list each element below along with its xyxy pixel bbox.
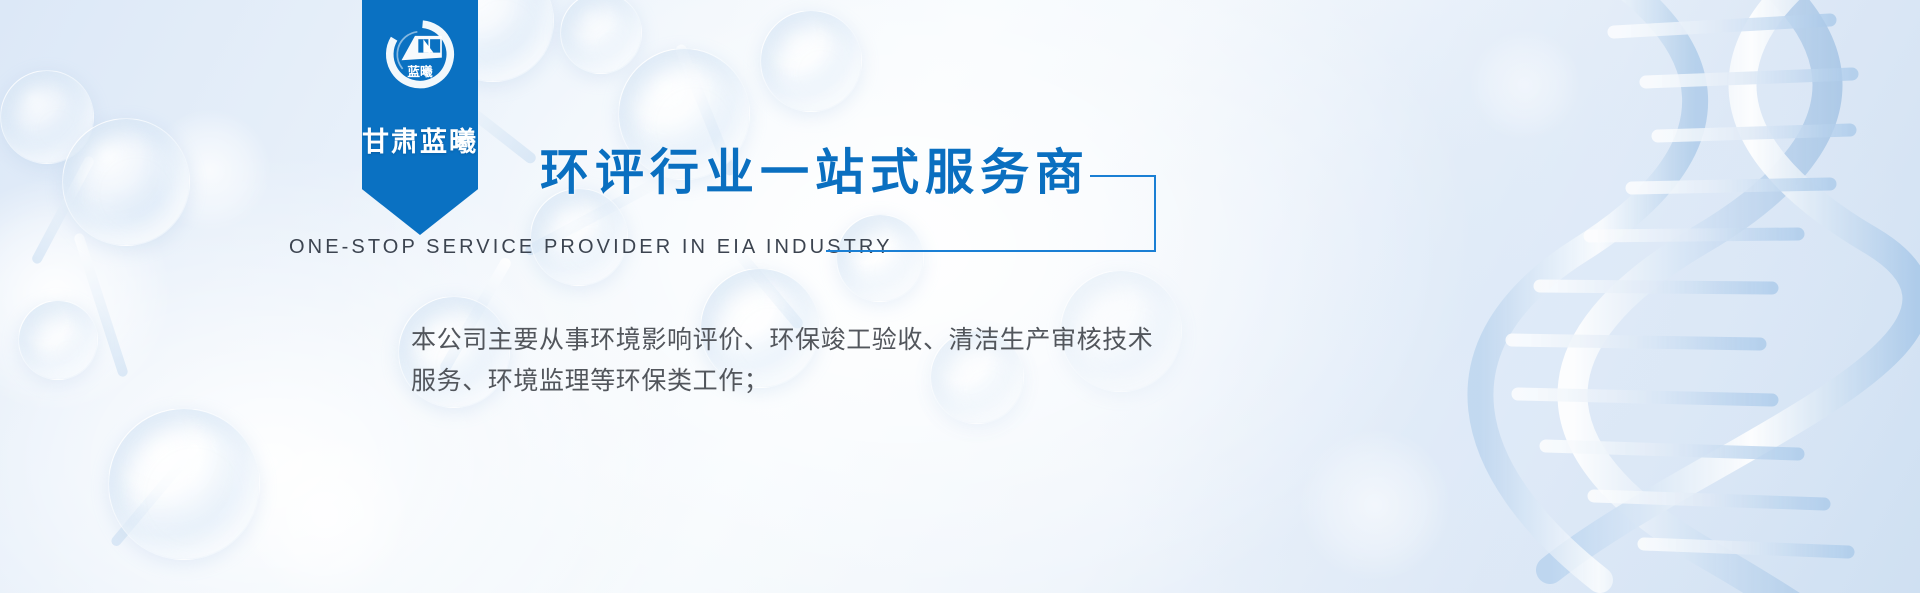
- accent-rule-top: [1090, 175, 1156, 177]
- molecule-icon: [108, 408, 260, 560]
- hero-banner: 蓝曦 甘肃蓝曦 环评行业一站式服务商 ONE-STOP SERVICE PROV…: [0, 0, 1920, 593]
- molecule-icon: [62, 118, 190, 246]
- company-logo-icon: 蓝曦: [378, 14, 462, 98]
- accent-rule-horizontal: [826, 250, 1156, 252]
- bokeh-light: [150, 110, 270, 230]
- molecule-icon: [760, 10, 862, 112]
- bokeh-light: [1470, 30, 1580, 140]
- page-subtitle: ONE-STOP SERVICE PROVIDER IN EIA INDUSTR…: [289, 236, 893, 259]
- page-title: 环评行业一站式服务商: [540, 148, 1090, 197]
- bokeh-light: [0, 180, 170, 410]
- description-line: 本公司主要从事环境影响评价、环保竣工验收、清洁生产审核技术: [411, 320, 1231, 361]
- molecule-icon: [0, 70, 94, 164]
- molecule-icon: [18, 300, 98, 380]
- molecule-bond: [30, 155, 95, 266]
- company-badge: 蓝曦 甘肃蓝曦: [362, 0, 478, 235]
- bokeh-light: [240, 430, 410, 593]
- description-block: 本公司主要从事环境影响评价、环保竣工验收、清洁生产审核技术 服务、环境监理等环保…: [411, 320, 1231, 401]
- molecule-icon: [560, 0, 642, 74]
- dna-helix-icon: [1400, 0, 1920, 593]
- molecule-bond: [109, 442, 200, 548]
- molecule-bond: [73, 232, 129, 378]
- accent-rule-vertical: [1154, 176, 1156, 252]
- description-line: 服务、环境监理等环保类工作；: [411, 361, 1231, 402]
- logo-mark-text: 蓝曦: [407, 64, 433, 79]
- bokeh-light: [1300, 430, 1450, 580]
- badge-company-name: 甘肃蓝曦: [362, 120, 478, 159]
